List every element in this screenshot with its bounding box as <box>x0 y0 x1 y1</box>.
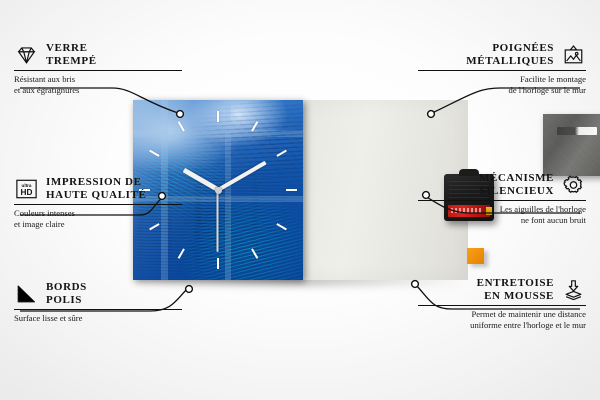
callout-header: POIGNÉES MÉTALLIQUES <box>418 42 586 67</box>
callout-rule <box>418 70 586 71</box>
callout-title: ENTRETOISE EN MOUSSE <box>477 277 554 302</box>
foam-spacer <box>467 248 484 264</box>
metal-hanging-plate <box>543 114 600 176</box>
ultra-hd-icon: ultra HD <box>14 178 39 200</box>
polished-edge-icon <box>14 283 39 305</box>
diamond-icon <box>14 44 39 66</box>
picture-frame-hanger-icon <box>561 44 586 66</box>
callout-title: BORDS POLIS <box>46 281 87 306</box>
callout-bords-polis: BORDS POLIS Surface lisse et sûre <box>14 281 182 324</box>
callout-title: VERRE TREMPÉ <box>46 42 97 67</box>
callout-poignees-metalliques: POIGNÉES MÉTALLIQUES Facilite le montage… <box>418 42 586 96</box>
hanger-slot <box>557 127 597 135</box>
callout-header: MÉCANISME SILENCIEUX <box>418 172 586 197</box>
callout-verre-trempe: VERRE TREMPÉ Résistant aux bris et aux é… <box>14 42 182 96</box>
infographic-stage: VERRE TREMPÉ Résistant aux bris et aux é… <box>0 0 600 400</box>
callout-impression-haute-qualite: ultra HD IMPRESSION DE HAUTE QUALITÉ Cou… <box>14 176 182 230</box>
callout-title: POIGNÉES MÉTALLIQUES <box>466 42 554 67</box>
clock-tick <box>217 258 219 269</box>
callout-mecanisme-silencieux: MÉCANISME SILENCIEUX Les aiguilles de l'… <box>418 172 586 226</box>
callout-subtitle: Surface lisse et sûre <box>14 313 182 324</box>
callout-rule <box>418 200 586 201</box>
callout-header: ENTRETOISE EN MOUSSE <box>418 277 586 302</box>
arrow-onto-layers-icon <box>561 279 586 301</box>
clock-tick <box>217 111 219 122</box>
callout-subtitle: Résistant aux bris et aux égratignures <box>14 74 182 95</box>
callout-title: IMPRESSION DE HAUTE QUALITÉ <box>46 176 146 201</box>
callout-header: BORDS POLIS <box>14 281 182 306</box>
gear-icon <box>561 174 586 196</box>
clock-center-hub <box>215 187 222 194</box>
callout-rule <box>14 309 182 310</box>
callout-subtitle: Facilite le montage de l'horloge sur le … <box>418 74 586 95</box>
callout-subtitle: Les aiguilles de l'horloge ne font aucun… <box>418 204 586 225</box>
callout-subtitle: Couleurs intenses et image claire <box>14 208 182 229</box>
callout-subtitle: Permet de maintenir une distance uniform… <box>418 309 586 330</box>
callout-rule <box>418 305 586 306</box>
callout-header: VERRE TREMPÉ <box>14 42 182 67</box>
callout-header: ultra HD IMPRESSION DE HAUTE QUALITÉ <box>14 176 182 201</box>
callout-rule <box>14 204 182 205</box>
callout-rule <box>14 70 182 71</box>
callout-title: MÉCANISME SILENCIEUX <box>479 172 554 197</box>
clock-tick <box>286 189 297 191</box>
svg-text:HD: HD <box>21 187 33 196</box>
callout-entretoise-en-mousse: ENTRETOISE EN MOUSSE Permet de maintenir… <box>418 277 586 331</box>
